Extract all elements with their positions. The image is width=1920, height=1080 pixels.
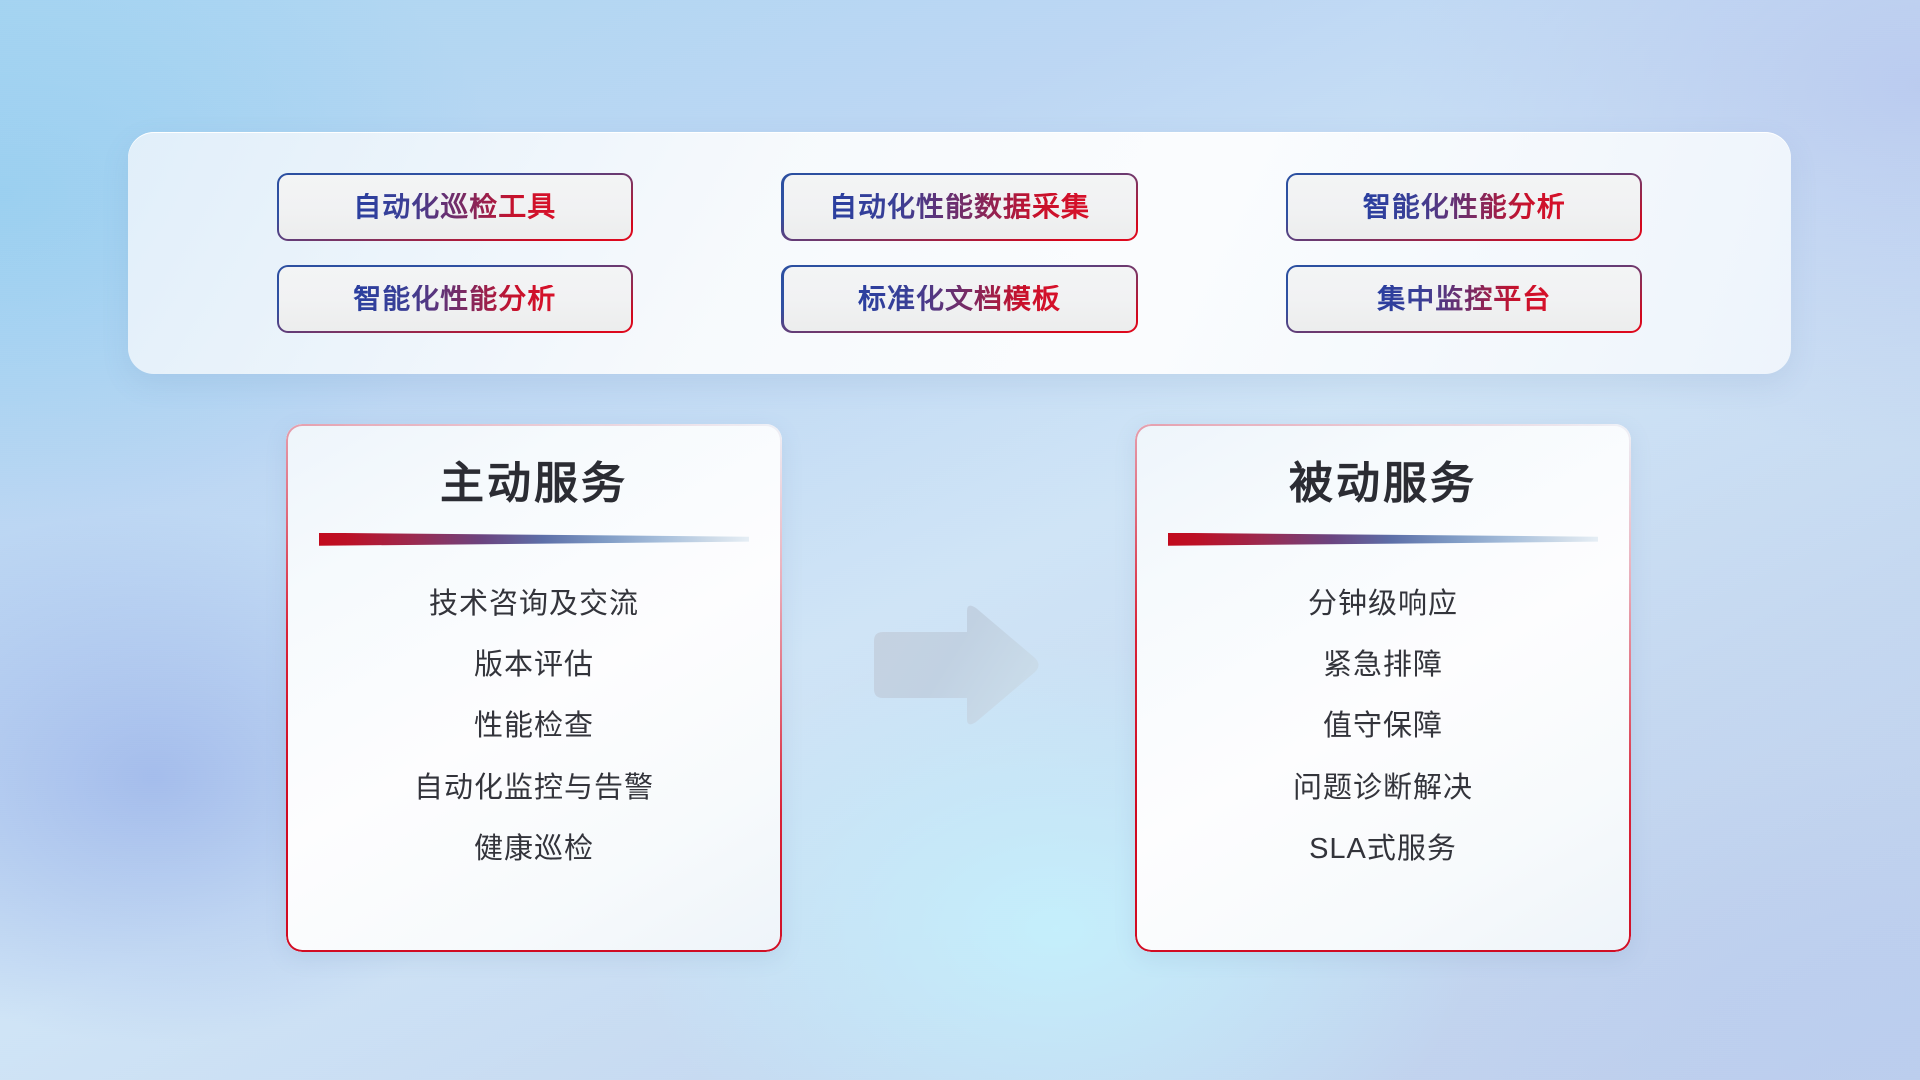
- capability-pill[interactable]: 标准化文档模板: [782, 265, 1138, 333]
- card-list-item: SLA式服务: [1309, 831, 1457, 867]
- title-divider: [1168, 533, 1598, 546]
- service-card-proactive: 主动服务 技术咨询及交流 版本评估 性能检查 自动化监控与告警 健康巡检: [286, 424, 782, 952]
- card-list-item: 健康巡检: [474, 831, 594, 867]
- divider-bar: [1168, 533, 1598, 546]
- capability-pill[interactable]: 智能化性能分析: [1286, 173, 1642, 241]
- card-title: 主动服务: [286, 458, 782, 511]
- divider-bar: [319, 533, 749, 546]
- card-list-item: 问题诊断解决: [1293, 770, 1473, 806]
- card-list-item: 紧急排障: [1323, 647, 1443, 683]
- card-list-item: 技术咨询及交流: [429, 586, 639, 622]
- card-list-item: 性能检查: [474, 708, 594, 744]
- capability-pill-label: 智能化性能分析: [353, 285, 556, 313]
- capability-pill-label: 自动化性能数据采集: [829, 193, 1090, 221]
- card-item-list: 分钟级响应 紧急排障 值守保障 问题诊断解决 SLA式服务: [1135, 586, 1631, 867]
- capability-pill-label: 智能化性能分析: [1363, 193, 1566, 221]
- capability-pill[interactable]: 集中监控平台: [1286, 265, 1642, 333]
- service-card-reactive: 被动服务 分钟级响应 紧急排障 值守保障 问题诊断解决 SLA式服务: [1135, 424, 1631, 952]
- capability-pill[interactable]: 自动化巡检工具: [277, 173, 633, 241]
- capability-pill[interactable]: 智能化性能分析: [277, 265, 633, 333]
- card-list-item: 版本评估: [474, 647, 594, 683]
- card-list-item: 值守保障: [1323, 708, 1443, 744]
- slide-canvas: 自动化巡检工具 自动化性能数据采集 智能化性能分析 智能化性能分析 标准化文档模…: [0, 0, 1920, 1080]
- flow-arrow-right-icon: [872, 602, 1040, 728]
- card-list-item: 自动化监控与告警: [414, 770, 654, 806]
- capability-pill[interactable]: 自动化性能数据采集: [782, 173, 1138, 241]
- card-item-list: 技术咨询及交流 版本评估 性能检查 自动化监控与告警 健康巡检: [286, 586, 782, 867]
- capability-pill-label: 自动化巡检工具: [353, 193, 556, 221]
- capability-pill-label: 集中监控平台: [1377, 285, 1551, 313]
- capabilities-panel: 自动化巡检工具 自动化性能数据采集 智能化性能分析 智能化性能分析 标准化文档模…: [128, 132, 1791, 374]
- card-title: 被动服务: [1135, 458, 1631, 511]
- capability-pill-label: 标准化文档模板: [858, 285, 1061, 313]
- card-list-item: 分钟级响应: [1308, 586, 1458, 622]
- capabilities-row-2: 智能化性能分析 标准化文档模板 集中监控平台: [128, 265, 1791, 333]
- title-divider: [319, 533, 749, 546]
- capabilities-row-1: 自动化巡检工具 自动化性能数据采集 智能化性能分析: [128, 173, 1791, 241]
